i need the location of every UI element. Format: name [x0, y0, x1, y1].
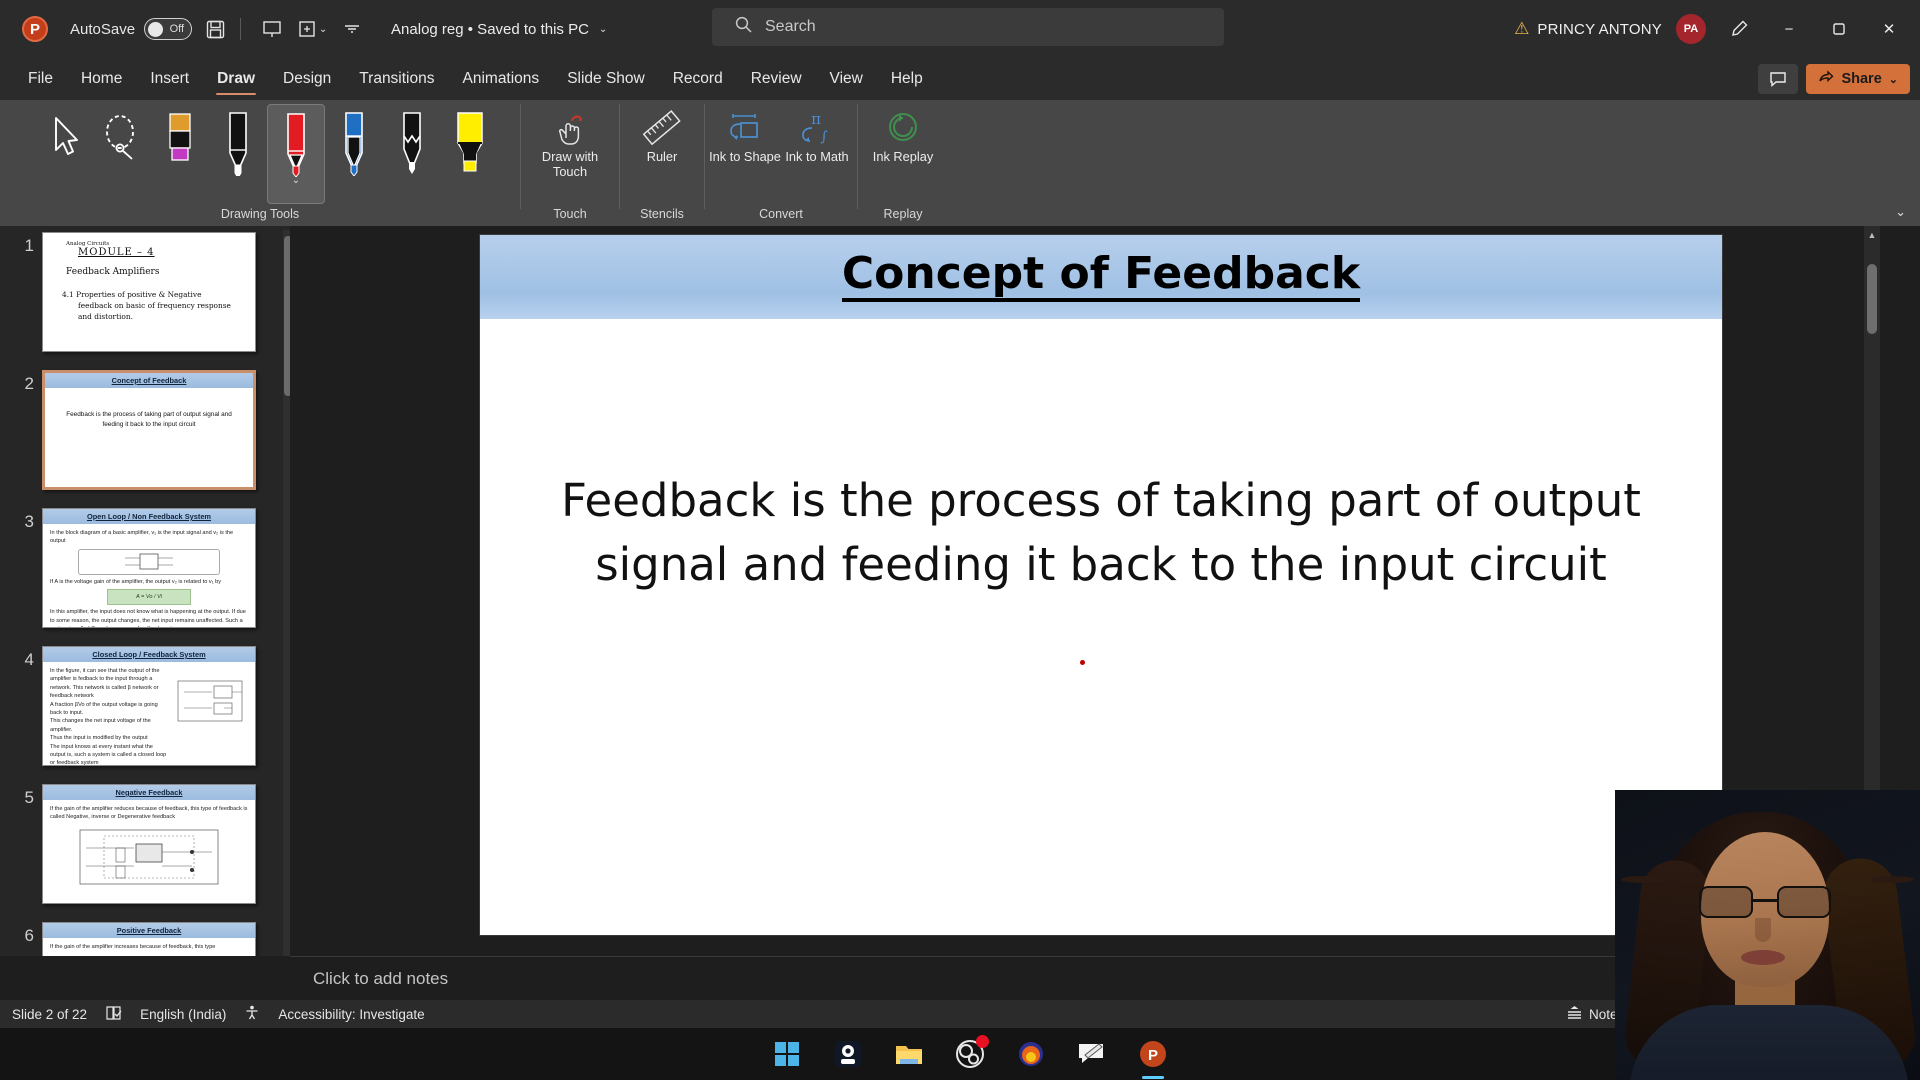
share-label: Share	[1841, 71, 1881, 87]
powerpoint-logo-icon: P	[22, 16, 48, 42]
tab-animations[interactable]: Animations	[449, 64, 554, 94]
thumbnail-row[interactable]: 3 Open Loop / Non Feedback System In the…	[0, 508, 290, 628]
bullet: This changes the net input voltage of th…	[50, 717, 170, 734]
ink-to-math-button[interactable]: π ∫ Ink to Math	[781, 104, 853, 204]
autosave-label: AutoSave	[70, 21, 135, 38]
thumbnail-body: In the block diagram of a basic amplifie…	[43, 524, 255, 628]
ink-to-math-label: Ink to Math	[785, 150, 848, 165]
presenter-mouth	[1741, 950, 1785, 965]
thumbnail-slide-3[interactable]: Open Loop / Non Feedback System In the b…	[42, 508, 256, 628]
close-button[interactable]: ✕	[1866, 9, 1912, 49]
thumbnail-number: 1	[8, 232, 34, 256]
bullet: If the gain of the amplifier increases b…	[50, 943, 248, 951]
glasses-lens-left	[1699, 886, 1753, 918]
thumbnail-number: 3	[8, 508, 34, 532]
pen-settings-icon[interactable]	[1716, 9, 1762, 49]
tab-review[interactable]: Review	[737, 64, 816, 94]
webcam-overlay	[1615, 790, 1920, 1080]
document-title[interactable]: Analog reg • Saved to this PC ⌄	[391, 21, 607, 38]
thumbnail-slide-6[interactable]: Positive Feedback If the gain of the amp…	[42, 922, 256, 956]
ink-line: 4.1 Properties of positive & Negative	[62, 289, 246, 300]
thumbnail-title: Negative Feedback	[43, 785, 255, 800]
thumbnail-row[interactable]: 6 Positive Feedback If the gain of the a…	[0, 922, 290, 956]
thumbnail-row[interactable]: 4 Closed Loop / Feedback System In the f…	[0, 646, 290, 766]
ink-line: MODULE – 4	[78, 245, 246, 260]
tab-slide-show[interactable]: Slide Show	[553, 64, 659, 94]
pen-red-tool[interactable]: ⌄	[267, 104, 325, 204]
thumbnail-row[interactable]: 2 Concept of Feedback Feedback is the pr…	[0, 370, 290, 490]
search-input[interactable]: Search	[712, 8, 1224, 46]
toggle-knob	[148, 22, 163, 37]
glasses-bridge	[1753, 899, 1777, 902]
accessibility-status[interactable]: Accessibility: Investigate	[278, 1007, 424, 1022]
formula-box: A = Vo / Vi	[107, 589, 190, 605]
obs-studio-icon[interactable]	[953, 1037, 987, 1071]
slide-counter[interactable]: Slide 2 of 22	[12, 1007, 87, 1022]
ribbon-tabs-right: Share ⌄	[1758, 58, 1910, 100]
spellcheck-icon[interactable]	[105, 1005, 122, 1024]
stencils-items: Ruler	[626, 100, 698, 200]
ribbon: ⌄	[0, 100, 1920, 226]
slide-title-band: Concept of Feedback	[480, 235, 1722, 319]
slide-thumbnail-pane[interactable]: 1 Analog Circuits MODULE – 4 Feedback Am…	[0, 226, 290, 956]
ribbon-group-label: Replay	[858, 207, 948, 221]
svg-text:∫: ∫	[820, 129, 827, 145]
ruler-label: Ruler	[647, 150, 678, 165]
presenter-nose	[1755, 918, 1771, 942]
pencil-tool[interactable]	[383, 104, 441, 196]
accessibility-icon[interactable]	[244, 1005, 260, 1024]
file-explorer-icon[interactable]	[892, 1037, 926, 1071]
thumbnail-slide-5[interactable]: Negative Feedback If the gain of the amp…	[42, 784, 256, 904]
search-icon	[734, 15, 753, 39]
notification-badge	[976, 1035, 989, 1048]
ink-line: Feedback Amplifiers	[66, 266, 246, 280]
eraser-tool[interactable]	[151, 104, 209, 196]
ribbon-group-label: Drawing Tools	[0, 207, 520, 221]
chevron-down-icon[interactable]: ⌄	[319, 24, 327, 35]
bullet: The input knows at every instant what th…	[50, 743, 170, 766]
thumbnail-title: Closed Loop / Feedback System	[43, 647, 255, 662]
thumbnail-slide-2[interactable]: Concept of Feedback Feedback is the proc…	[42, 370, 256, 490]
warning-triangle-icon[interactable]: ⚠	[1514, 19, 1529, 39]
circuit-diagram	[50, 826, 248, 888]
user-name: PRINCY ANTONY	[1537, 21, 1662, 38]
powerpoint-app-icon[interactable]: P	[1136, 1037, 1170, 1071]
tab-view[interactable]: View	[816, 64, 877, 94]
draw-with-touch-label: Draw with Touch	[534, 150, 606, 179]
ribbon-group-replay: Ink Replay Replay	[858, 100, 948, 226]
pen-options-chevron-down-icon[interactable]: ⌄	[292, 175, 300, 186]
taskbar-items: P	[770, 1028, 1170, 1080]
thumbnail-number: 4	[8, 646, 34, 670]
svg-text:P: P	[1148, 1047, 1158, 1064]
camera-app-icon[interactable]	[831, 1037, 865, 1071]
feedback-diagram	[174, 667, 248, 766]
autosave-control[interactable]: AutoSave Off	[70, 18, 192, 40]
thumbnail-scrollbar[interactable]	[283, 230, 290, 956]
bullet: A fraction βVo of the output voltage is …	[50, 701, 170, 718]
thumbnail-slide-4[interactable]: Closed Loop / Feedback System In the fig…	[42, 646, 256, 766]
thumbnail-number: 5	[8, 784, 34, 808]
notes-icon	[1566, 1005, 1583, 1023]
tab-file[interactable]: File	[14, 64, 67, 94]
ribbon-group-convert: Ink to Shape π ∫ Ink to Math Convert	[705, 100, 857, 226]
highlighter-yellow-tool[interactable]	[441, 104, 499, 196]
divider	[240, 18, 241, 40]
undo-icon[interactable]	[335, 12, 369, 46]
presenter-glasses	[1699, 886, 1831, 920]
convert-items: Ink to Shape π ∫ Ink to Math	[709, 100, 853, 200]
ribbon-group-touch: Draw with Touch Touch	[521, 100, 619, 226]
present-icon[interactable]	[255, 12, 289, 46]
replay-items: Ink Replay	[867, 100, 939, 200]
ink-line: feedback on basic of frequency response	[78, 300, 246, 311]
thumbnail-slide-1[interactable]: Analog Circuits MODULE – 4 Feedback Ampl…	[42, 232, 256, 352]
ribbon-tabs: File Home Insert Draw Design Transitions…	[0, 58, 1920, 100]
start-button[interactable]	[770, 1037, 804, 1071]
ribbon-group-label: Touch	[521, 207, 619, 221]
bullet: In the figure, it can see that the outpu…	[50, 667, 170, 701]
thumbnail-body: If the gain of the amplifier increases b…	[43, 938, 255, 956]
glasses-lens-right	[1777, 886, 1831, 918]
language-label[interactable]: English (India)	[140, 1007, 226, 1022]
tab-record[interactable]: Record	[659, 64, 737, 94]
chevron-down-icon[interactable]: ⌄	[599, 24, 607, 35]
pen-black-tool[interactable]	[209, 104, 267, 196]
ink-replay-button[interactable]: Ink Replay	[867, 104, 939, 204]
svg-text:π: π	[811, 110, 821, 128]
ribbon-group-label: Stencils	[620, 207, 704, 221]
chevron-down-icon[interactable]: ⌄	[1889, 73, 1898, 86]
tab-draw[interactable]: Draw	[203, 64, 269, 94]
thumbnail-body: Feedback is the process of taking part o…	[45, 388, 253, 453]
share-icon	[1818, 69, 1834, 89]
scrollbar-thumb[interactable]	[1867, 264, 1877, 334]
ink-to-shape-label: Ink to Shape	[709, 150, 781, 165]
minimize-button[interactable]: −	[1766, 9, 1812, 49]
presenter-eyebrow-right	[1870, 876, 1914, 883]
select-tool[interactable]	[35, 104, 93, 196]
thumbnail-title: Open Loop / Non Feedback System	[43, 509, 255, 524]
title-bar-right: ⚠ PRINCY ANTONY PA − ✕	[1514, 0, 1912, 58]
bullet: In the block diagram of a basic amplifie…	[50, 529, 248, 546]
bullet: If A is the voltage gain of the amplifie…	[50, 578, 248, 586]
ink-content: Analog Circuits MODULE – 4 Feedback Ampl…	[43, 233, 255, 329]
tab-design[interactable]: Design	[269, 64, 345, 94]
bullet: In this amplifier, the input does not kn…	[50, 608, 248, 628]
lasso-select-tool[interactable]	[93, 104, 151, 196]
slide-title[interactable]: Concept of Feedback	[842, 252, 1360, 302]
tab-help[interactable]: Help	[877, 64, 937, 94]
tab-insert[interactable]: Insert	[136, 64, 203, 94]
ink-to-shape-button[interactable]: Ink to Shape	[709, 104, 781, 204]
ribbon-group-label: Convert	[705, 207, 857, 221]
avatar[interactable]: PA	[1676, 14, 1706, 44]
bullet: Thus the input is modified by the output	[50, 734, 170, 742]
collapse-ribbon-chevron-down-icon[interactable]: ⌄	[1895, 204, 1906, 220]
share-button[interactable]: Share ⌄	[1806, 64, 1910, 94]
notes-placeholder: Click to add notes	[313, 969, 448, 989]
save-icon[interactable]	[198, 12, 232, 46]
whiteboard-app-icon[interactable]	[1075, 1037, 1109, 1071]
firefox-browser-icon[interactable]	[1014, 1037, 1048, 1071]
touch-items: Draw with Touch	[534, 100, 606, 200]
drawing-tools-items: ⌄	[21, 100, 499, 200]
autosave-toggle[interactable]: Off	[144, 18, 192, 40]
tab-home[interactable]: Home	[67, 64, 136, 94]
thumbnail-title: Concept of Feedback	[45, 373, 253, 388]
thumbnail-body: If the gain of the amplifier reduces bec…	[43, 800, 255, 893]
autosave-state: Off	[170, 23, 184, 35]
ruler-button[interactable]: Ruler	[626, 104, 698, 204]
thumbnail-row[interactable]: 5 Negative Feedback If the gain of the a…	[0, 784, 290, 904]
slide-body-text[interactable]: Feedback is the process of taking part o…	[480, 319, 1722, 597]
ribbon-group-stencils: Ruler Stencils	[620, 100, 704, 226]
scroll-up-arrow-icon[interactable]: ▲	[1864, 226, 1880, 243]
thumbnail-number: 6	[8, 922, 34, 946]
thumbnail-body: In the figure, it can see that the outpu…	[43, 662, 255, 766]
red-ink-dot-icon	[1080, 660, 1085, 665]
bullet: If the gain of the amplifier reduces bec…	[50, 805, 248, 822]
current-slide[interactable]: Concept of Feedback Feedback is the proc…	[480, 235, 1722, 935]
document-title-text: Analog reg • Saved to this PC	[391, 21, 589, 38]
pen-blue-tool[interactable]	[325, 104, 383, 196]
tab-transitions[interactable]: Transitions	[345, 64, 448, 94]
ribbon-group-drawing-tools: ⌄	[0, 100, 520, 226]
ink-replay-label: Ink Replay	[873, 150, 933, 165]
block-diagram	[78, 549, 221, 575]
ink-line: and distortion.	[78, 311, 246, 322]
comments-icon[interactable]	[1758, 64, 1798, 94]
thumbnail-title: Positive Feedback	[43, 923, 255, 938]
title-bar: P AutoSave Off ⌄ Analog reg • Saved to t…	[0, 0, 1920, 58]
thumbnail-number: 2	[8, 370, 34, 394]
powerpoint-window: P AutoSave Off ⌄ Analog reg • Saved to t…	[0, 0, 1920, 1080]
search-placeholder: Search	[765, 18, 816, 36]
restore-button[interactable]	[1816, 9, 1862, 49]
thumbnail-row[interactable]: 1 Analog Circuits MODULE – 4 Feedback Am…	[0, 232, 290, 352]
presenter-eyebrow-left	[1621, 876, 1665, 883]
draw-with-touch-button[interactable]: Draw with Touch	[534, 104, 606, 204]
customize-quick-access-icon[interactable]: ⌄	[295, 12, 329, 46]
